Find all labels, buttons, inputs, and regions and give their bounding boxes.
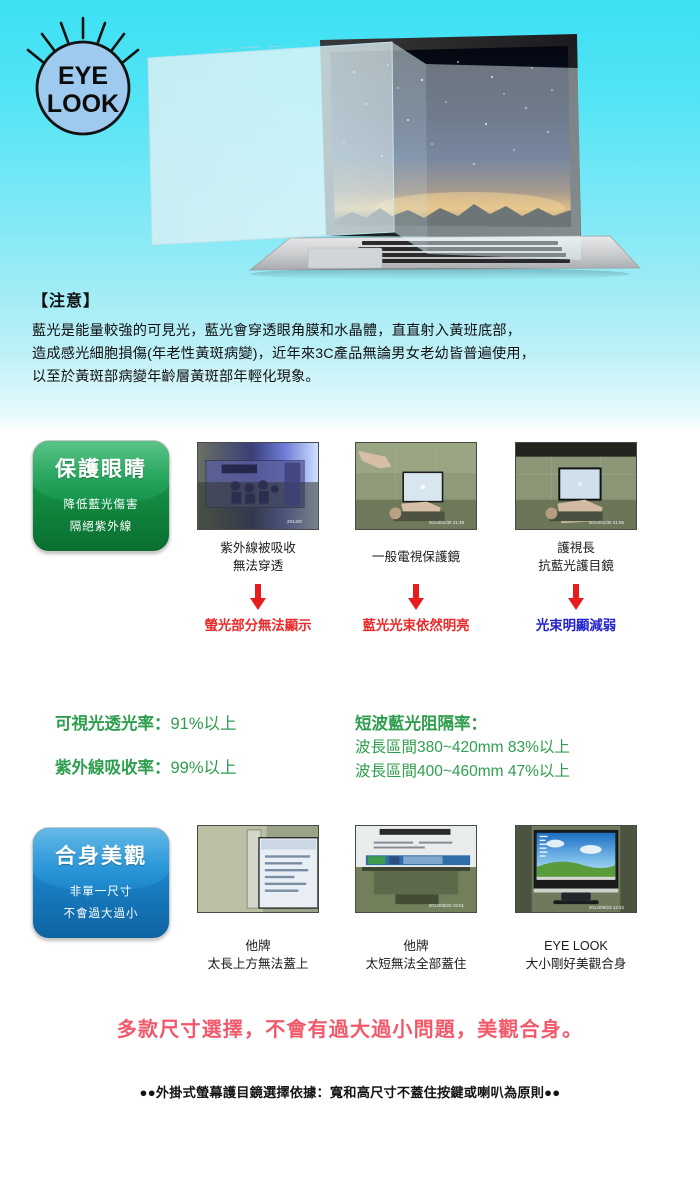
badge-title: 保護眼睛: [33, 453, 169, 483]
sun-eye-logo-icon: EYE LOOK: [18, 16, 148, 146]
result-caption-fluorescent-blocked: 螢光部分無法顯示: [168, 616, 348, 635]
photo-timestamp: 2014/01/30 21:48: [429, 520, 465, 525]
eye-look-logo: EYE LOOK: [18, 16, 148, 146]
caption-eyelook-goggle: 護視長 抗藍光護目鏡: [486, 539, 666, 576]
spec-label: 紫外線吸收率：: [55, 759, 171, 777]
notice-body: 藍光是能量較強的可見光，藍光會穿透眼角膜和水晶體，直直射入黃班底部， 造成感光細…: [32, 320, 672, 389]
result-text: 螢光部分無法顯示: [204, 618, 311, 633]
notice-line: 造成感光細胞損傷(年老性黃斑病變)，近年來3C產品無論男女老幼皆普遍使用，: [32, 343, 672, 366]
caption-line: 他牌: [326, 937, 506, 955]
photo-timestamp: 2014/09/22 19:01: [429, 903, 465, 908]
photo-timestamp: 2014/09/22 19:05: [271, 903, 307, 908]
hero-banner: EYE LOOK: [0, 0, 700, 432]
caption-eyelook-perfect-fit: EYE LOOK 大小剛好美觀合身: [486, 937, 666, 974]
caption-uv-absorbed: 紫外線被吸收 無法穿透: [168, 539, 348, 576]
badge-protect-eyes: 保護眼睛 降低藍光傷害 隔絕紫外線: [32, 440, 170, 552]
caption-other-brand-too-short: 他牌 太短無法全部蓋住: [326, 937, 506, 974]
result-caption-beam-reduced: 光束明顯減弱: [486, 616, 666, 635]
result-caption-blue-light-bright: 藍光光束依然明亮: [326, 616, 506, 635]
section-good-fit: 合身美觀 非單一尺寸 不會過大過小 2014/09/22 19:05: [0, 825, 700, 985]
result-text: 光束明顯減弱: [536, 618, 616, 633]
other-brand-too-long-photo: 2014/09/22 19:05: [197, 825, 319, 913]
caption-line: 一般電視保護鏡: [326, 548, 506, 566]
photo-timestamp: 2014/09/23 12:42: [589, 905, 625, 910]
caption-line: 抗藍光護目鏡: [486, 557, 666, 575]
general-tv-screen-protector-photo: 2014/01/30 21:48: [355, 442, 477, 530]
down-arrow-icon: [405, 584, 427, 610]
caption-general-protector: 一般電視保護鏡: [326, 548, 506, 566]
spec-uv-absorption: 紫外線吸收率：99%以上: [55, 754, 237, 778]
caption-line: 太長上方無法蓋上: [168, 955, 348, 973]
caption-line: 無法穿透: [168, 557, 348, 575]
spec-value: 99%以上: [171, 759, 237, 777]
spec-blue-block-row: 波長區間380~420mm 83%以上: [355, 735, 570, 757]
notice-block: 【注意】 藍光是能量較強的可見光，藍光會穿透眼角膜和水晶體，直直射入黃班底部， …: [32, 287, 672, 389]
caption-line: 他牌: [168, 937, 348, 955]
caption-line: 紫外線被吸收: [168, 539, 348, 557]
badge-sub-2: 隔絕紫外線: [33, 518, 169, 534]
badge-sub-2: 不會過大過小: [33, 905, 169, 921]
spec-blue-block-row: 波長區間400~460mm 47%以上: [355, 759, 570, 781]
caption-line: 護視長: [486, 539, 666, 557]
result-text: 藍光光束依然明亮: [362, 618, 469, 633]
eyelook-perfect-fit-photo: 2014/09/23 12:42: [515, 825, 637, 913]
specs-block: 可視光透光率：91%以上 紫外線吸收率：99%以上 短波藍光阻隔率： 波長區間3…: [0, 697, 700, 825]
section-protect-eyes: 保護眼睛 降低藍光傷害 隔絕紫外線: [0, 432, 700, 697]
notice-line: 以至於黃斑部病變年齡層黃斑部年輕化現象。: [32, 366, 672, 389]
photo-timestamp: 2014/0: [287, 519, 302, 525]
caption-line: EYE LOOK: [486, 937, 666, 955]
down-arrow-icon: [565, 584, 587, 610]
footer-note: ●●外掛式螢幕護目鏡選擇依據：寬和高尺寸不蓋住按鍵或喇叭為原則●●: [0, 1082, 700, 1101]
footer-block: 多款尺寸選擇，不會有過大過小問題，美觀合身。 ●●外掛式螢幕護目鏡選擇依據：寬和…: [0, 985, 700, 1200]
spec-value: 91%以上: [171, 715, 237, 733]
caption-line: 大小剛好美觀合身: [486, 955, 666, 973]
caption-line: 太短無法全部蓋住: [326, 955, 506, 973]
badge-sub-1: 降低藍光傷害: [33, 496, 169, 512]
spec-label: 可視光透光率：: [55, 715, 171, 733]
logo-text-look: LOOK: [47, 90, 119, 118]
badge-sub-1: 非單一尺寸: [33, 883, 169, 899]
uv-banknote-photo: 2014/0: [197, 442, 319, 530]
other-brand-too-short-photo: 2014/09/22 19:01: [355, 825, 477, 913]
notice-title: 【注意】: [32, 287, 672, 311]
notice-line: 藍光是能量較強的可見光，藍光會穿透眼角膜和水晶體，直直射入黃班底部，: [32, 320, 672, 343]
eyelook-anti-blue-light-photo: 2014/01/30 21:55: [515, 442, 637, 530]
spec-blue-block-title: 短波藍光阻隔率：: [355, 710, 487, 734]
logo-text-eye: EYE: [58, 62, 108, 90]
laptop-hero-image: [140, 32, 680, 280]
spec-visible-light: 可視光透光率：91%以上: [55, 710, 237, 734]
footer-headline: 多款尺寸選擇，不會有過大過小問題，美觀合身。: [0, 1013, 700, 1042]
down-arrow-icon: [247, 584, 269, 610]
badge-good-fit: 合身美觀 非單一尺寸 不會過大過小: [32, 827, 170, 939]
photo-timestamp: 2014/01/30 21:55: [589, 520, 625, 525]
caption-other-brand-too-long: 他牌 太長上方無法蓋上: [168, 937, 348, 974]
badge-title: 合身美觀: [33, 840, 169, 870]
